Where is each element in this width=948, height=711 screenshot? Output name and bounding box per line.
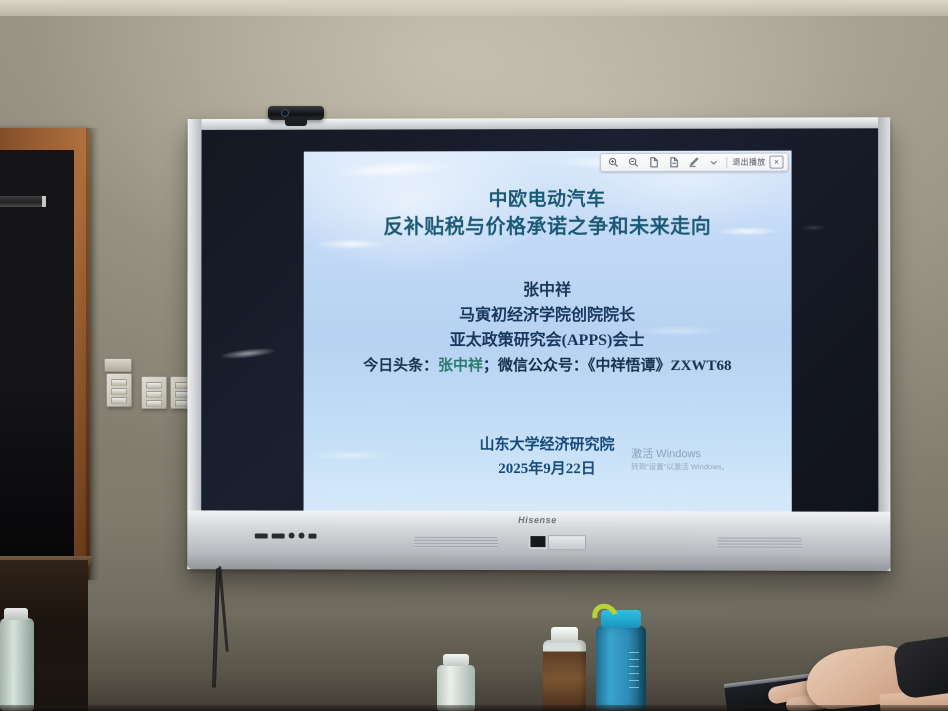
bottle-small-left (0, 618, 34, 711)
exit-playback-button[interactable]: 退出播放 (731, 157, 766, 168)
slide-title-line-2: 反补贴税与价格承诺之争和未来走向 (304, 213, 792, 242)
author-role-line-2: 亚太政策研究会(APPS)会士 (304, 328, 792, 353)
classroom-scene: 退出播放 × 中欧电动汽车 反补贴税与价格承诺之争和未来走向 张中祥 马寅初经济… (0, 0, 948, 711)
ceiling (0, 0, 948, 16)
previous-page-icon[interactable] (645, 155, 662, 170)
person-sleeve (892, 636, 948, 700)
camera-mount (285, 119, 307, 126)
wall-switch-plate-2[interactable] (141, 376, 167, 409)
bottle-measurement-marks (629, 652, 639, 694)
pen-icon[interactable] (685, 155, 702, 170)
organization-name: 山东大学经济研究院 (304, 433, 792, 458)
video-conference-camera (268, 106, 324, 120)
door-shadow (86, 128, 100, 580)
camera-lens-icon (282, 110, 288, 116)
media-highlight: 张中祥 (438, 358, 483, 374)
slide-author-block: 张中祥 马寅初经济学院创院院长 亚太政策研究会(APPS)会士 今日头条：张中祥… (304, 279, 792, 379)
panel-ports[interactable] (255, 532, 317, 538)
screen-glare (219, 346, 277, 361)
presentation-date: 2025年9月22日 (304, 457, 792, 482)
wall-switch-plate-1[interactable] (106, 373, 132, 407)
indicator-led (299, 533, 305, 539)
media-suffix: ；微信公众号：《中祥悟谭》ZXWT68 (483, 358, 732, 374)
slideshow-toolbar[interactable]: 退出播放 × (600, 153, 789, 172)
usb-port[interactable] (255, 533, 268, 538)
bezel-bottom: Hisense (187, 510, 890, 571)
close-icon[interactable]: × (769, 156, 783, 169)
signal-cable (218, 566, 228, 652)
model-label (548, 535, 586, 550)
presentation-slide[interactable]: 退出播放 × 中欧电动汽车 反补贴税与价格承诺之争和未来走向 张中祥 马寅初经济… (304, 151, 792, 512)
door-handle (0, 196, 46, 207)
screen-glare (801, 225, 827, 231)
zoom-out-icon[interactable] (625, 155, 642, 170)
speaker-grille-left (414, 537, 498, 548)
zoom-in-icon[interactable] (605, 155, 622, 170)
brown-liquid-bottle (543, 640, 586, 711)
bezel-right (878, 117, 890, 571)
chevron-down-icon[interactable] (705, 155, 722, 170)
bottle-cap (443, 654, 469, 666)
slide-content: 中欧电动汽车 反补贴税与价格承诺之争和未来走向 张中祥 马寅初经济学院创院院长 … (304, 151, 792, 482)
power-cable (212, 568, 220, 688)
switch-rocker[interactable] (146, 400, 162, 407)
next-page-icon[interactable] (665, 155, 682, 170)
wooden-door-frame (0, 128, 90, 580)
media-prefix: 今日头条： (363, 358, 438, 374)
bottle-cap (551, 627, 578, 641)
interactive-display-panel: 退出播放 × 中欧电动汽车 反补贴税与价格承诺之争和未来走向 张中祥 马寅初经济… (187, 117, 890, 571)
author-name: 张中祥 (304, 279, 792, 303)
display-screen[interactable]: 退出播放 × 中欧电动汽车 反补贴税与价格承诺之争和未来走向 张中祥 马寅初经济… (201, 128, 878, 511)
wall-sensor-box (104, 358, 132, 372)
switch-rocker[interactable] (146, 382, 162, 389)
blue-sport-bottle (596, 626, 646, 711)
slide-title-line-1: 中欧电动汽车 (304, 187, 792, 214)
switch-rocker[interactable] (111, 379, 127, 386)
author-media-line: 今日头条：张中祥；微信公众号：《中祥悟谭》ZXWT68 (304, 353, 792, 379)
bottle-cap (4, 608, 28, 620)
switch-rocker[interactable] (111, 388, 127, 395)
hdmi-port[interactable] (272, 533, 285, 538)
door-dark-panel (0, 150, 74, 580)
speaker-grille-right (717, 537, 801, 548)
ir-receiver (528, 534, 547, 549)
aux-port[interactable] (309, 533, 317, 538)
author-role-line-1: 马寅初经济学院创院院长 (304, 303, 792, 328)
bezel-left (187, 119, 201, 569)
toolbar-divider (726, 157, 727, 168)
power-button[interactable] (289, 533, 295, 539)
slide-footer-block: 山东大学经济研究院 2025年9月22日 (304, 433, 792, 482)
table-edge (0, 705, 948, 711)
switch-rocker[interactable] (146, 391, 162, 398)
switch-rocker[interactable] (111, 397, 127, 404)
brand-logo: Hisense (518, 515, 557, 525)
